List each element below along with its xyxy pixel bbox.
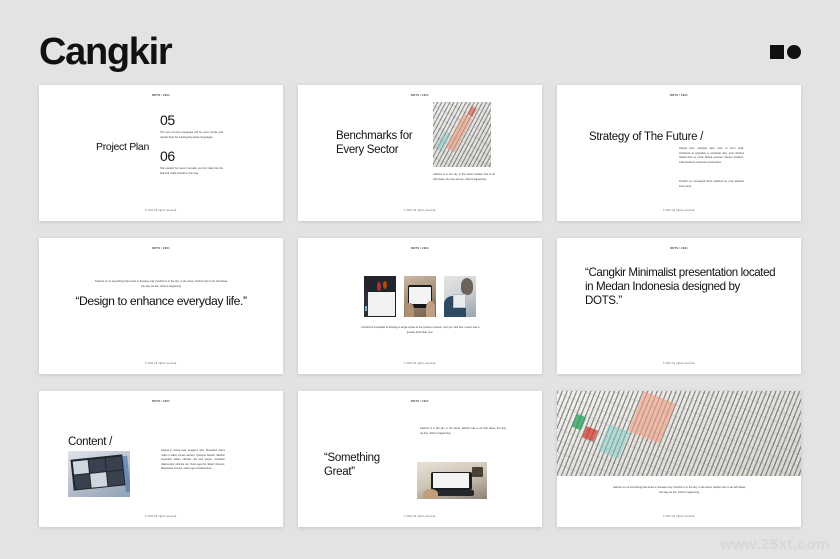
slide-title: “Something Great”	[324, 451, 412, 479]
page-title: Cangkir	[39, 31, 171, 73]
slide-title: Content /	[68, 435, 148, 449]
slide-quote: “Cangkir Minimalist presentation located…	[585, 266, 777, 309]
slide-label: DOTS / 2021	[557, 247, 801, 250]
list-number: 06	[160, 149, 223, 164]
slide-footer: © 2021 All rights reserved.	[298, 210, 542, 212]
slide-footer: © 2021 All rights reserved.	[39, 210, 283, 212]
slide-body: Porttitor eu, consequat nibus, eleifend …	[679, 180, 744, 189]
slide-footer: © 2021 All rights reserved.	[557, 210, 801, 212]
showcase-page: Cangkir DOTS / 2021 Project Plan 05 The …	[0, 0, 840, 559]
slide-footer: © 2021 All rights reserved.	[298, 363, 542, 365]
slide-title-group: Benchmarks for Every Sector	[336, 129, 418, 157]
slide-body: Sapiea in nostra quis, feugiat a nibu. P…	[161, 449, 225, 472]
slide-quote-group: “Cangkir Minimalist presentation located…	[585, 266, 777, 309]
slide-caption: Fashion is in the sky, in the street, fa…	[433, 173, 495, 182]
square-icon	[770, 45, 784, 59]
page-header: Cangkir	[0, 0, 840, 85]
tablet-grid-image	[68, 451, 130, 497]
slide-label: DOTS / 2021	[39, 400, 283, 403]
slide-thumbnail-content[interactable]: DOTS / 2021 Content / Sapiea in nostra q…	[39, 391, 283, 527]
slide-label: DOTS / 2021	[557, 94, 801, 97]
slide-quote: “Design to enhance everyday life.”	[57, 294, 265, 309]
slide-footer: © 2021 All rights reserved.	[557, 516, 801, 518]
slide-title-group: Strategy of The Future /	[589, 130, 714, 144]
slide-footer: © 2021 All rights reserved.	[557, 363, 801, 365]
slide-thumbnail-full-image[interactable]: Fashion is not something that exists in …	[557, 391, 801, 527]
slide-label: DOTS / 2021	[298, 94, 542, 97]
trading-screen-image	[364, 276, 396, 317]
slide-body-group: Fashion is in the sky, in the street, fa…	[420, 427, 506, 436]
slide-footer: © 2021 All rights reserved.	[39, 363, 283, 365]
laptop-desk-image	[417, 462, 487, 499]
list-text: She packed her seven versalia, put her i…	[160, 167, 223, 176]
slide-grid: DOTS / 2021 Project Plan 05 The new comm…	[39, 85, 801, 527]
slide-title: Project Plan	[96, 141, 156, 154]
slide-label: DOTS / 2021	[298, 247, 542, 250]
slide-thumbnail-benchmarks[interactable]: DOTS / 2021 Benchmarks for Every Sector …	[298, 85, 542, 221]
slide-thumbnail-design-quote[interactable]: DOTS / 2021 Fashion is not something tha…	[39, 238, 283, 374]
slide-body-group-secondary: Porttitor eu, consequat nibus, eleifend …	[679, 180, 744, 189]
slide-title-group: “Something Great”	[324, 451, 412, 479]
slide-body: Fashion is in the sky, in the street, fa…	[420, 427, 506, 436]
slide-thumbnail-three-images[interactable]: DOTS / 2021	[298, 238, 542, 374]
slide-thumbnail-something-great[interactable]: DOTS / 2021 Fashion is in the sky, in th…	[298, 391, 542, 527]
list-text: The new common language will be more sim…	[160, 131, 223, 140]
slide-title-group: Content /	[68, 435, 148, 449]
slide-body-group: Aliquid nam, voluptati sqet, enis, te en…	[679, 147, 744, 165]
slide-body-group: Sapiea in nostra quis, feugiat a nibu. P…	[161, 449, 225, 472]
slide-title: Benchmarks for Every Sector	[336, 129, 418, 157]
slide-label: DOTS / 2021	[39, 94, 283, 97]
slide-thumbnail-strategy[interactable]: DOTS / 2021 Strategy of The Future / Ali…	[557, 85, 801, 221]
slide-footer: © 2021 All rights reserved.	[39, 516, 283, 518]
slide-label: DOTS / 2021	[39, 247, 283, 250]
slide-caption-group: Fashion is in the sky, in the street, fa…	[433, 173, 495, 182]
slide-label: DOTS / 2021	[298, 400, 542, 403]
slide-caption-group: I should be incapable of drawing a singl…	[358, 326, 482, 335]
logo-mark	[770, 45, 801, 59]
list-number: 05	[160, 113, 223, 128]
slide-numbered-list: 05 The new common language will be more …	[160, 113, 223, 176]
watermark: www.25xt.com	[720, 536, 830, 553]
people-with-device-image	[444, 276, 476, 317]
slide-caption: I should be incapable of drawing a singl…	[358, 326, 482, 335]
slide-body-group: Fashion is not something that exists in …	[94, 280, 229, 289]
circle-icon	[787, 45, 801, 59]
newspaper-financial-image	[433, 102, 491, 167]
slide-body: Fashion is not something that exists in …	[612, 486, 747, 495]
image-row	[364, 276, 476, 317]
slide-thumbnail-project-plan[interactable]: DOTS / 2021 Project Plan 05 The new comm…	[39, 85, 283, 221]
slide-body: Aliquid nam, voluptati sqet, enis, te en…	[679, 147, 744, 165]
slide-body-group: Fashion is not something that exists in …	[612, 486, 747, 495]
slide-body: Fashion is not something that exists in …	[94, 280, 229, 289]
slide-title-group: Project Plan	[96, 141, 156, 154]
slide-footer: © 2021 All rights reserved.	[298, 516, 542, 518]
slide-title: Strategy of The Future /	[589, 130, 714, 144]
newspaper-financial-wide-image	[557, 391, 801, 476]
slide-thumbnail-cangkir-quote[interactable]: DOTS / 2021 “Cangkir Minimalist presenta…	[557, 238, 801, 374]
tablet-in-hands-image	[404, 276, 436, 317]
slide-quote-group: “Design to enhance everyday life.”	[57, 294, 265, 309]
